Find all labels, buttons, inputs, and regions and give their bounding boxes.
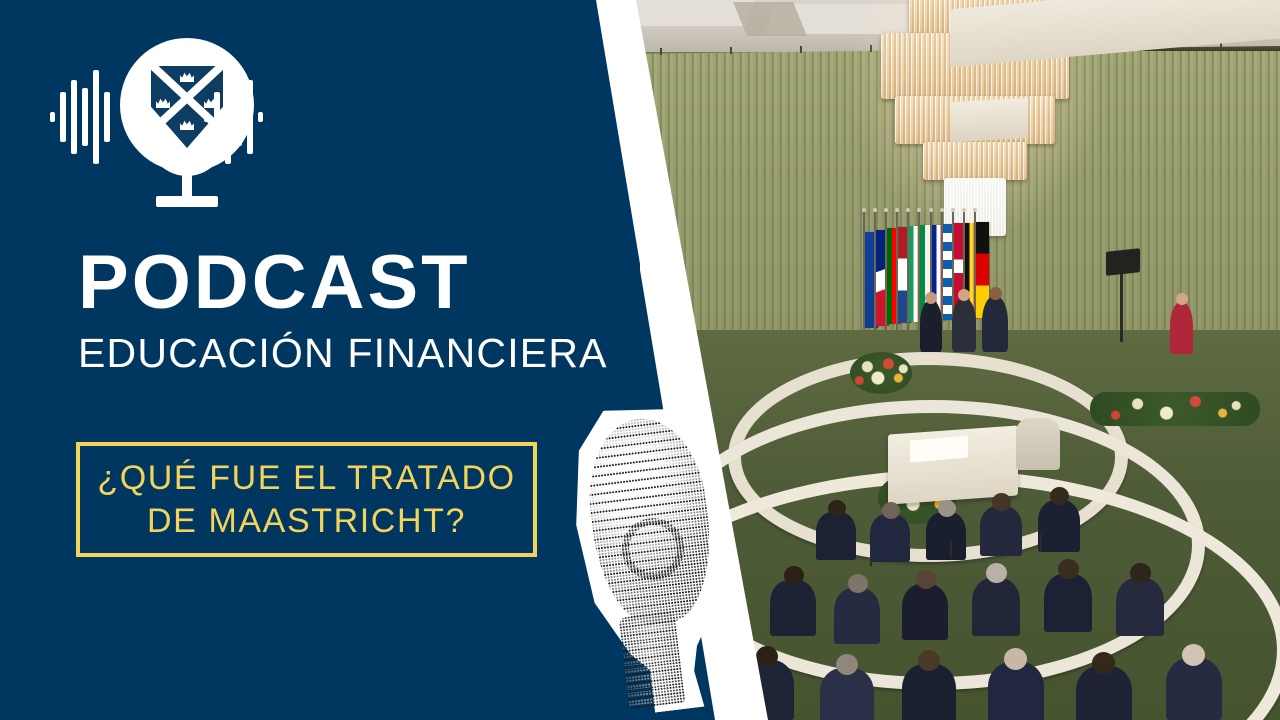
delegate-head (925, 292, 937, 304)
delegate (902, 664, 956, 720)
delegate (926, 512, 966, 560)
podcast-logo (46, 36, 262, 196)
delegate-head (1182, 644, 1205, 666)
page-title: PODCAST (78, 245, 471, 321)
microphone-body (619, 611, 686, 709)
signing-chair (1016, 418, 1060, 470)
delegate-head (938, 500, 956, 517)
curtain-hook (730, 47, 732, 54)
delegate (982, 296, 1008, 352)
curtain-hook (800, 46, 802, 53)
delegate-head (882, 502, 900, 519)
delegate-head (1130, 563, 1151, 583)
delegate-head (1050, 487, 1069, 505)
retro-microphone-icon (578, 406, 724, 712)
episode-question-box: ¿QUÉ FUE EL TRATADO DE MAASTRICHT? (76, 442, 537, 557)
table-microphone (1040, 534, 1042, 552)
delegate (1044, 574, 1092, 632)
curtain-hook (870, 45, 872, 52)
curtain-hook (660, 48, 662, 55)
delegate (902, 584, 948, 640)
floral-border (1090, 392, 1260, 426)
waveform-bar (50, 112, 55, 122)
delegate (1170, 302, 1193, 354)
delegate-head (836, 654, 858, 675)
delegate (770, 580, 816, 636)
waveform-bar (214, 92, 220, 142)
delegate-head (986, 563, 1007, 583)
delegate (834, 588, 880, 644)
floral-arrangement (850, 352, 912, 394)
delegate (952, 298, 976, 352)
delegate-head (1004, 648, 1027, 670)
waveform-bar (236, 88, 242, 146)
delegate (972, 578, 1020, 636)
delegate (820, 668, 874, 720)
delegate-head (958, 289, 970, 301)
episode-question: ¿QUÉ FUE EL TRATADO DE MAASTRICHT? (87, 457, 525, 542)
waveform-bar (204, 112, 209, 122)
delegate-head (1092, 652, 1115, 674)
delegate-head (1058, 559, 1079, 579)
microphone-stem (182, 164, 192, 200)
waveform-bar (258, 112, 263, 122)
chandelier-tier (923, 142, 1027, 180)
delegate (1076, 666, 1132, 720)
delegate (1116, 578, 1164, 636)
delegate (870, 514, 910, 562)
microphone-base (156, 196, 218, 207)
table-microphone (870, 548, 872, 566)
loudspeaker (1106, 248, 1140, 276)
delegate-head (918, 650, 940, 671)
delegate-head (916, 570, 936, 589)
delegate (988, 662, 1044, 720)
delegate-head (992, 493, 1011, 511)
delegate (1166, 658, 1222, 720)
delegate-head (848, 574, 868, 593)
delegate-head (828, 500, 846, 517)
delegate-head (1176, 293, 1188, 305)
waveform-bar (71, 80, 77, 154)
page-subtitle: EDUCACIÓN FINANCIERA (78, 333, 608, 374)
waveform-bar (60, 92, 66, 142)
podcast-cover: PODCAST EDUCACIÓN FINANCIERA ¿QUÉ FUE EL… (0, 0, 1280, 720)
waveform-bar (82, 88, 88, 146)
waveform-bar (225, 70, 231, 164)
waveform-bar (93, 70, 99, 164)
delegate (1038, 500, 1080, 552)
delegate-head (756, 646, 778, 667)
delegate (920, 300, 942, 352)
delegate (816, 512, 856, 560)
delegate-head (989, 287, 1002, 300)
waveform-bar (247, 80, 253, 154)
podium (950, 98, 1028, 142)
delegate (980, 506, 1022, 556)
waveform-bar (104, 92, 110, 142)
table-microphone (950, 540, 952, 558)
delegate-head (784, 566, 804, 585)
